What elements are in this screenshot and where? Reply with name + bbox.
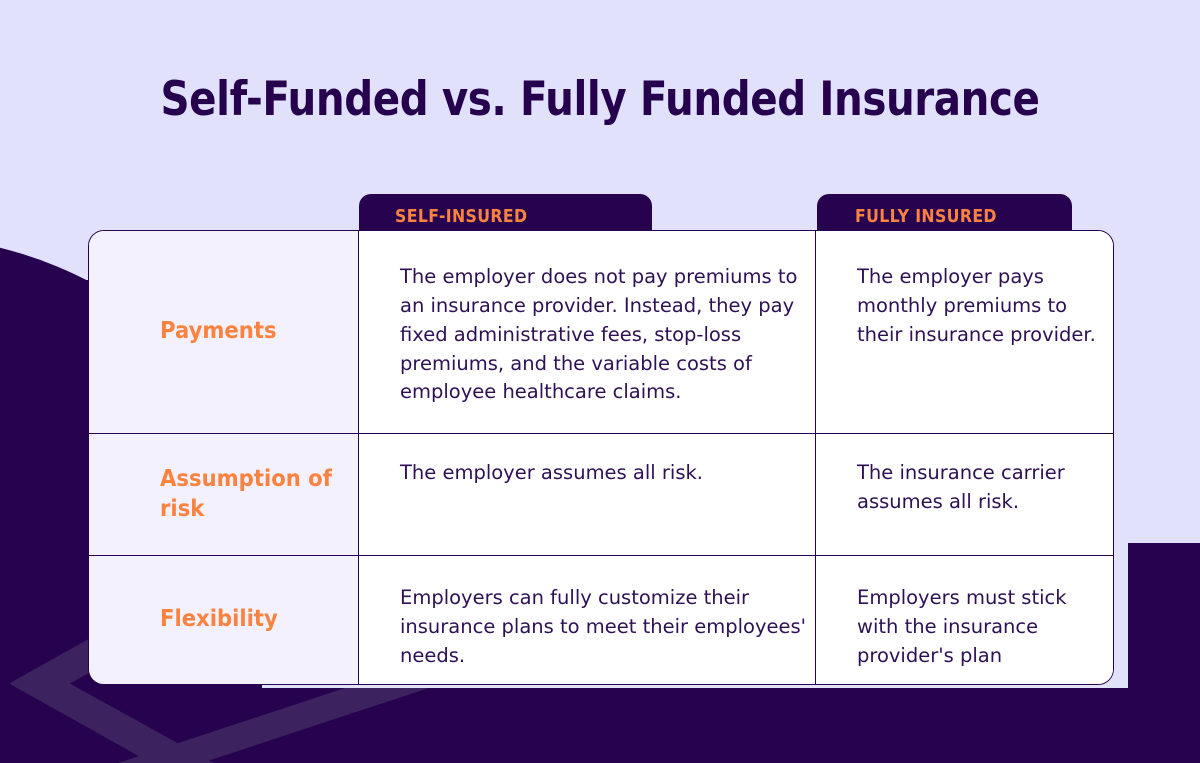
row-label: Flexibility [160, 605, 278, 634]
row-self-insured-text: The employer does not pay premiums to an… [400, 265, 797, 403]
row-label-cell: Flexibility [89, 556, 359, 684]
row-fully-insured-cell: The employer pays monthly premiums to th… [816, 231, 1113, 433]
tab-fully-insured-label: FULLY INSURED [855, 207, 997, 227]
table-row: Flexibility Employers can fully customiz… [89, 556, 1113, 684]
table-row: Payments The employer does not pay premi… [89, 231, 1113, 434]
row-label-cell: Assumption of risk [89, 434, 359, 555]
table-row: Assumption of risk The employer assumes … [89, 434, 1113, 556]
row-label-cell: Payments [89, 231, 359, 433]
row-fully-insured-text: Employers must stick with the insurance … [857, 586, 1067, 667]
row-fully-insured-cell: The insurance carrier assumes all risk. [816, 434, 1113, 555]
row-self-insured-text: Employers can fully customize their insu… [400, 586, 806, 667]
row-self-insured-cell: Employers can fully customize their insu… [359, 556, 816, 684]
row-label: Assumption of risk [160, 465, 342, 524]
row-self-insured-cell: The employer does not pay premiums to an… [359, 231, 816, 433]
row-self-insured-cell: The employer assumes all risk. [359, 434, 816, 555]
comparison-table: Payments The employer does not pay premi… [88, 230, 1114, 685]
row-fully-insured-cell: Employers must stick with the insurance … [816, 556, 1113, 684]
tab-self-insured-label: SELF-INSURED [395, 207, 527, 227]
row-label: Payments [160, 317, 277, 346]
row-self-insured-text: The employer assumes all risk. [400, 461, 703, 484]
page-title: Self-Funded vs. Fully Funded Insurance [84, 72, 1116, 127]
row-fully-insured-text: The insurance carrier assumes all risk. [857, 461, 1065, 513]
row-fully-insured-text: The employer pays monthly premiums to th… [857, 265, 1096, 346]
